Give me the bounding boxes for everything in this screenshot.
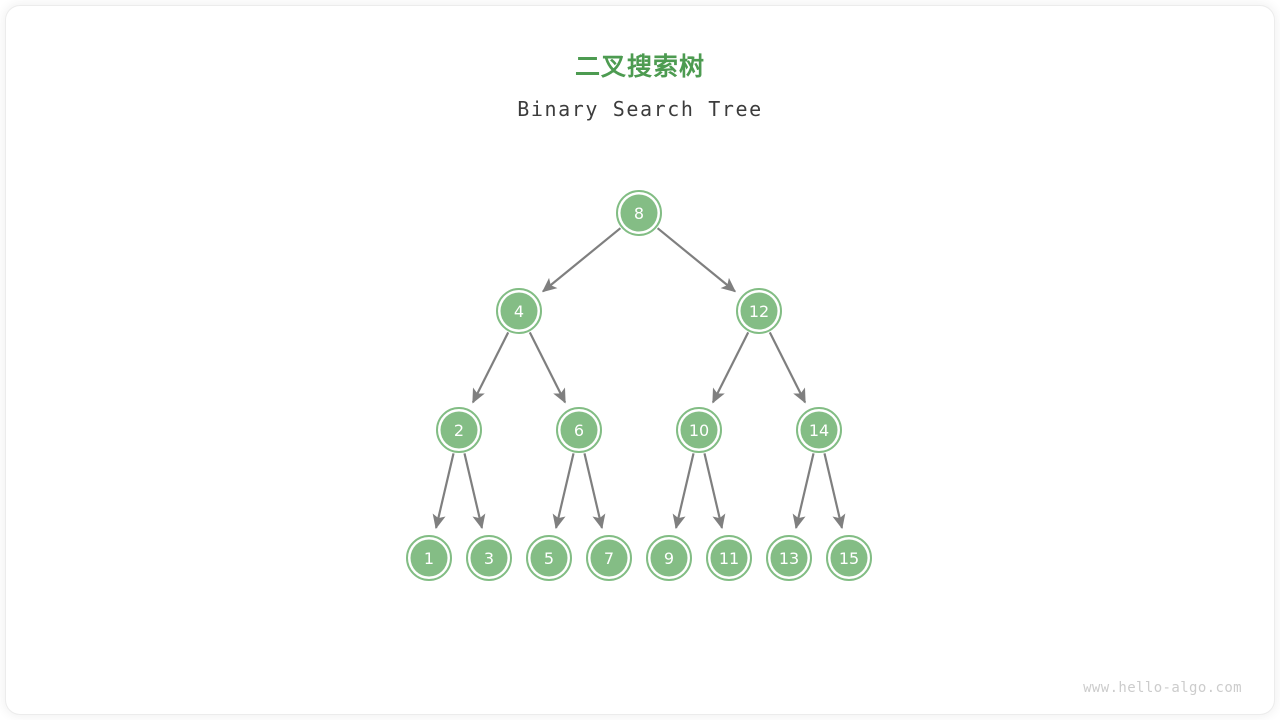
tree-edge — [770, 332, 805, 402]
tree-node[interactable]: 9 — [647, 536, 691, 580]
tree-node[interactable]: 6 — [557, 408, 601, 452]
tree-node-label: 10 — [689, 421, 709, 440]
figure-canvas: 二叉搜索树 Binary Search Tree 841226101413579… — [0, 0, 1280, 720]
tree-edge — [436, 453, 453, 527]
tree-edge — [658, 228, 735, 291]
tree-node[interactable]: 2 — [437, 408, 481, 452]
tree-node[interactable]: 14 — [797, 408, 841, 452]
tree-node-label: 11 — [719, 549, 739, 568]
tree-node[interactable]: 7 — [587, 536, 631, 580]
tree-node[interactable]: 12 — [737, 289, 781, 333]
tree-edge — [676, 453, 693, 527]
tree-edge — [530, 332, 565, 402]
tree-node-label: 13 — [779, 549, 799, 568]
tree-node-label: 14 — [809, 421, 829, 440]
tree-node[interactable]: 1 — [407, 536, 451, 580]
tree-node[interactable]: 11 — [707, 536, 751, 580]
edges-layer — [436, 228, 842, 528]
tree-node-label: 5 — [544, 549, 554, 568]
tree-edge — [473, 332, 508, 402]
tree-node-label: 4 — [514, 302, 524, 321]
tree-edge — [556, 453, 573, 527]
tree-node-label: 7 — [604, 549, 614, 568]
watermark: www.hello-algo.com — [1083, 680, 1242, 696]
tree-edge — [584, 453, 601, 527]
tree-edge — [824, 453, 841, 527]
tree-node-label: 12 — [749, 302, 769, 321]
tree-node[interactable]: 15 — [827, 536, 871, 580]
tree-node-label: 2 — [454, 421, 464, 440]
tree-node[interactable]: 4 — [497, 289, 541, 333]
tree-node[interactable]: 5 — [527, 536, 571, 580]
tree-node[interactable]: 10 — [677, 408, 721, 452]
tree-edge — [464, 453, 481, 527]
tree-node[interactable]: 8 — [617, 191, 661, 235]
tree-node-label: 9 — [664, 549, 674, 568]
tree-node[interactable]: 3 — [467, 536, 511, 580]
tree-edge — [543, 228, 620, 291]
binary-search-tree-diagram: 841226101413579111315 — [0, 0, 1280, 720]
tree-node-label: 3 — [484, 549, 494, 568]
tree-node[interactable]: 13 — [767, 536, 811, 580]
nodes-layer: 841226101413579111315 — [407, 191, 871, 580]
tree-node-label: 1 — [424, 549, 434, 568]
tree-node-label: 8 — [634, 204, 644, 223]
tree-edge — [704, 453, 721, 527]
tree-edge — [796, 453, 813, 527]
tree-node-label: 15 — [839, 549, 859, 568]
tree-edge — [713, 332, 748, 402]
tree-node-label: 6 — [574, 421, 584, 440]
